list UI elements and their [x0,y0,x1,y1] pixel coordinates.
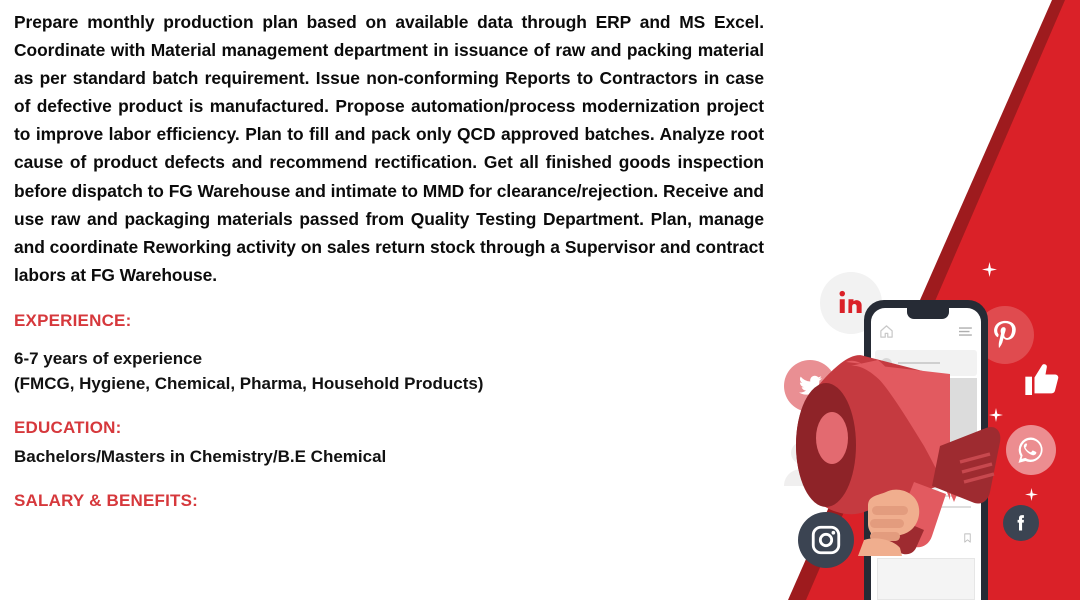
thumbs-up-icon [1022,360,1062,400]
slide-canvas: Prepare monthly production plan based on… [0,0,1080,600]
education-line-1: Bachelors/Masters in Chemistry/B.E Chemi… [14,444,764,469]
salary-heading: SALARY & BENEFITS: [14,491,764,511]
whatsapp-icon [1006,425,1056,475]
experience-heading: EXPERIENCE: [14,311,764,331]
content-column: Prepare monthly production plan based on… [14,8,764,511]
section-experience: EXPERIENCE: 6-7 years of experience (FMC… [14,311,764,396]
social-media-illustration [790,250,1080,600]
responsibilities-paragraph: Prepare monthly production plan based on… [14,8,764,289]
feed-next-post [877,558,975,600]
education-heading: EDUCATION: [14,418,764,438]
sparkle-icon [1025,488,1038,501]
megaphone-illustration [790,286,1010,556]
experience-line-2: (FMCG, Hygiene, Chemical, Pharma, Househ… [14,371,764,396]
experience-line-1: 6-7 years of experience [14,346,764,371]
section-salary: SALARY & BENEFITS: [14,491,764,511]
megaphone-mouth-highlight [816,412,848,464]
sparkle-icon [826,262,836,272]
section-education: EDUCATION: Bachelors/Masters in Chemistr… [14,418,764,469]
smartphone-notch [907,308,949,319]
sparkle-icon [982,262,997,277]
